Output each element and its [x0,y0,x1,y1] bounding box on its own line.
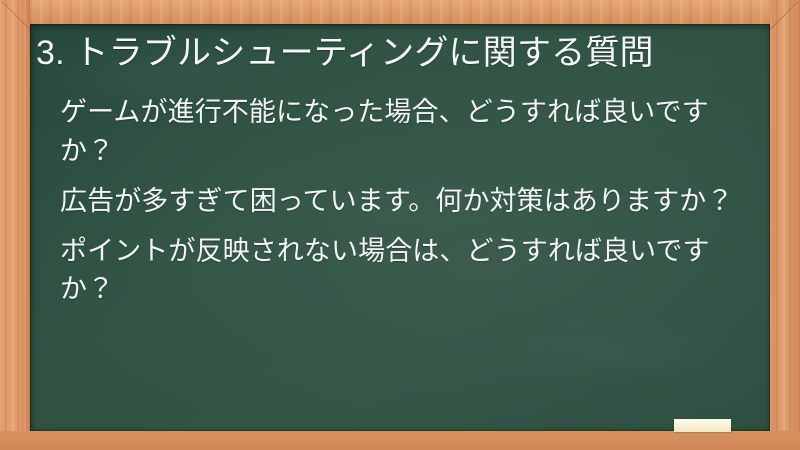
list-item: ポイントが反映されない場合は、どうすれば良いですか？ [60,232,746,309]
slide-content: 3. トラブルシューティングに関する質問 ゲームが進行不能になった場合、どうすれ… [30,24,770,309]
frame-right-rail [770,0,800,450]
frame-bottom-ledge [0,431,800,450]
slide-title: 3. トラブルシューティングに関する質問 [33,32,756,75]
chalkboard-surface: 3. トラブルシューティングに関する質問 ゲームが進行不能になった場合、どうすれ… [30,24,770,431]
frame-top-rail [0,0,800,24]
chalkboard-slide: 3. トラブルシューティングに関する質問 ゲームが進行不能になった場合、どうすれ… [0,0,800,450]
list-item: ゲームが進行不能になった場合、どうすれば良いですか？ [60,93,746,170]
question-list: ゲームが進行不能になった場合、どうすれば良いですか？ 広告が多すぎて困っています… [33,93,756,309]
frame-left-rail [0,0,30,450]
list-item: 広告が多すぎて困っています。何か対策はありますか？ [60,182,746,220]
chalk-stick-icon [674,419,731,432]
